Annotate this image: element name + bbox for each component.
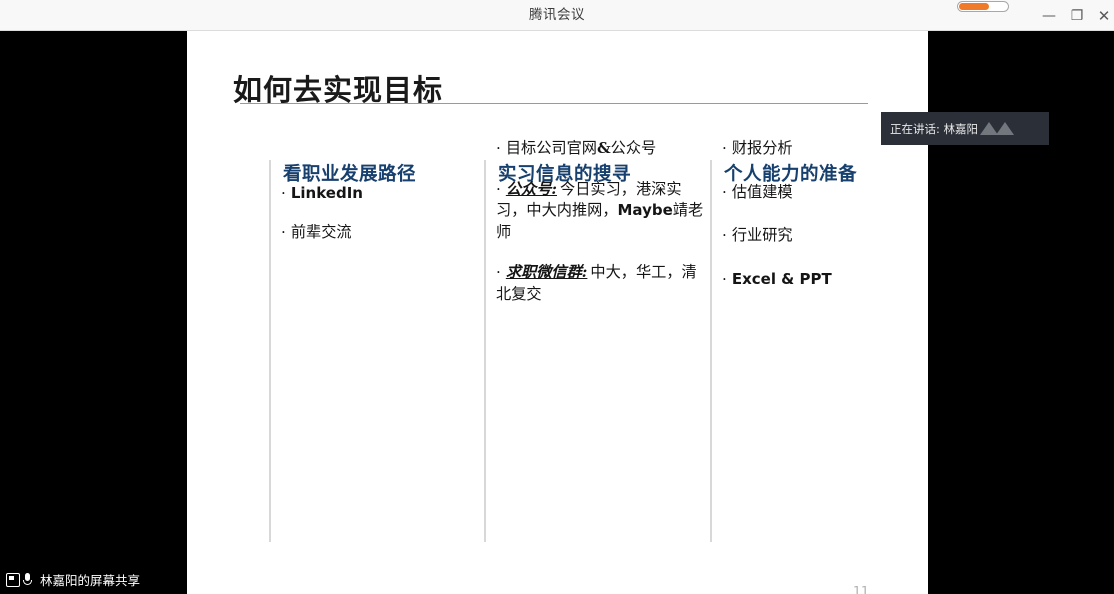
bullet-dot: · — [281, 223, 286, 241]
list-item-text: 求职微信群: — [506, 263, 588, 281]
minimize-button[interactable]: — — [1036, 6, 1062, 26]
bullet-dot: · — [496, 139, 501, 157]
column-body-1: ·LinkedIn·前辈交流 — [281, 183, 476, 260]
microphone-icon — [23, 573, 37, 587]
list-item: ·前辈交流 — [281, 222, 476, 244]
screen-share-icon — [6, 573, 20, 587]
screen-share-status-text: 林嘉阳的屏幕共享 — [40, 570, 140, 589]
list-item-text: Maybe — [618, 201, 673, 219]
list-item-text: 前辈交流 — [291, 223, 352, 241]
list-item: ·目标公司官网&公众号 — [496, 138, 704, 160]
close-button[interactable]: ✕ — [1091, 6, 1114, 26]
list-item: ·公众号:今日实习，港深实习，中大内推网，Maybe靖老师 — [496, 179, 704, 244]
list-item-text: 财报分析 — [732, 139, 793, 157]
column-body-2: ·目标公司官网&公众号·公众号:今日实习，港深实习，中大内推网，Maybe靖老师… — [496, 138, 704, 324]
meeting-toolbar-pill[interactable] — [957, 1, 1009, 12]
tencent-meeting-window: 腾讯会议 — ❐ ✕ 如何去实现目标 看职业发展路径 实习信息的搜寻 个人能力的… — [0, 0, 1114, 594]
list-item: ·行业研究 — [722, 225, 907, 247]
title-divider — [240, 103, 868, 104]
list-item: ·Excel & PPT — [722, 269, 907, 291]
slide-page-number: 11 — [853, 583, 869, 594]
list-item-text: 目标公司官网 — [506, 139, 597, 157]
list-item-text: 估值建模 — [732, 183, 793, 201]
column-body-3: ·财报分析·估值建模·行业研究·Excel & PPT — [722, 138, 907, 312]
app-title: 腾讯会议 — [0, 0, 1114, 30]
list-item-text: 公众号: — [506, 180, 557, 198]
list-item-text: & — [597, 139, 611, 157]
list-item: ·估值建模 — [722, 182, 907, 204]
window-title-bar: 腾讯会议 — ❐ ✕ — [0, 0, 1114, 31]
active-speaker-label: 正在讲话: 林嘉阳 — [890, 121, 978, 137]
shared-screen-stage: 如何去实现目标 看职业发展路径 实习信息的搜寻 个人能力的准备 ·LinkedI… — [0, 31, 1114, 594]
bullet-dot: · — [722, 183, 727, 201]
list-item-text: 行业研究 — [732, 226, 793, 244]
list-item-text: LinkedIn — [291, 184, 363, 202]
presentation-slide: 如何去实现目标 看职业发展路径 实习信息的搜寻 个人能力的准备 ·LinkedI… — [187, 31, 928, 594]
bullet-dot: · — [722, 139, 727, 157]
list-item: ·LinkedIn — [281, 183, 476, 205]
bullet-dot: · — [496, 180, 501, 198]
list-item-text: 公众号 — [611, 139, 657, 157]
bullet-dot: · — [722, 270, 727, 288]
bullet-dot: · — [722, 226, 727, 244]
meeting-toolbar-pill-fill — [959, 3, 989, 10]
bullet-dot: · — [281, 184, 286, 202]
list-item-text: Excel & PPT — [732, 270, 832, 288]
screen-share-status-bar: 林嘉阳的屏幕共享 — [0, 565, 187, 594]
list-item: ·财报分析 — [722, 138, 907, 160]
bullet-dot: · — [496, 263, 501, 281]
maximize-button[interactable]: ❐ — [1064, 6, 1090, 26]
list-item: ·求职微信群:中大，华工，清北复交 — [496, 262, 704, 305]
audio-waveform-icon — [982, 122, 1014, 135]
active-speaker-banner: 正在讲话: 林嘉阳 — [881, 112, 1049, 145]
